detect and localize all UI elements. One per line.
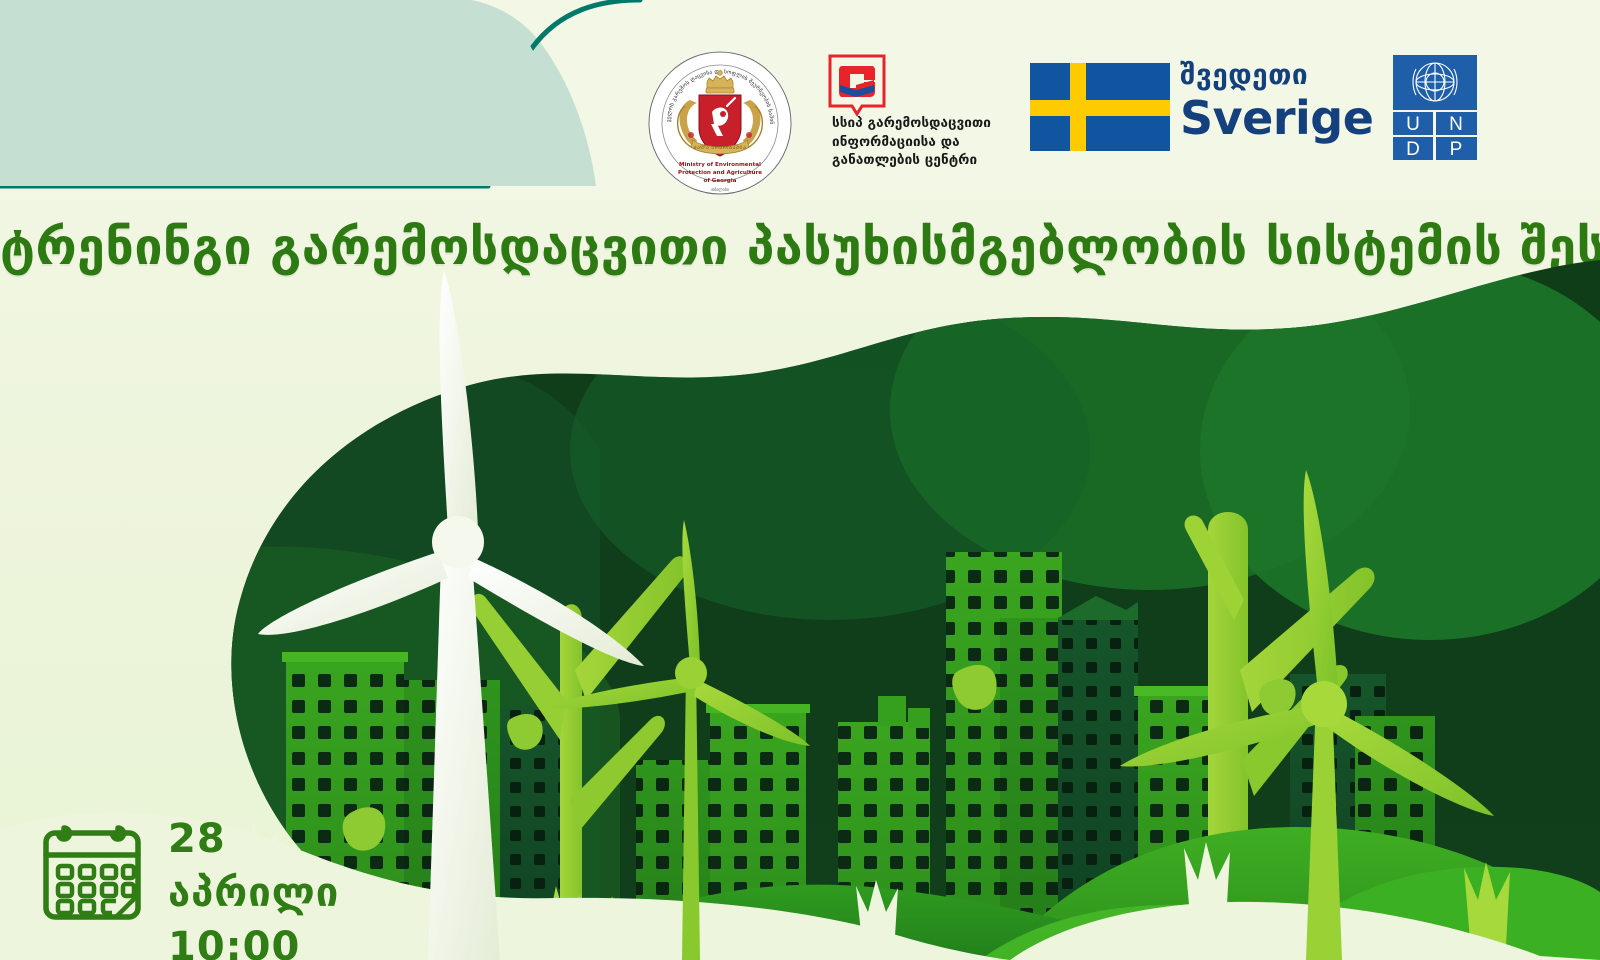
sweden-text-latin: Sverige — [1180, 95, 1370, 141]
sweden-text-georgian: შვედეთი — [1180, 61, 1370, 89]
svg-text:ᲫᲐᲚᲐ ᲔᲠᲗᲝᲑᲐᲨᲘᲐ: ᲫᲐᲚᲐ ᲔᲠᲗᲝᲑᲐᲨᲘᲐ — [694, 145, 747, 151]
logo-strip: საქართველოს გარემოს დაცვისა და სოფლის მე… — [0, 0, 1600, 200]
ministry-caption-line3: of Georgia — [704, 178, 737, 184]
undp-letter-n: N — [1449, 114, 1463, 135]
ministry-emblem-logo: საქართველოს გარემოს დაცვისა და სოფლის მე… — [645, 48, 795, 198]
poster-root: საქართველოს გარემოს დაცვისა და სოფლის მე… — [0, 0, 1600, 960]
undp-letter-u: U — [1406, 114, 1420, 135]
calendar-icon — [38, 816, 146, 924]
ministry-caption-line1: Ministry of Environmental — [679, 162, 761, 168]
info-centre-logo: სსიპ გარემოსდაცვითი ინფორმაციისა და განა… — [812, 52, 1012, 177]
sweden-text: შვედეთი Sverige — [1180, 61, 1370, 141]
info-centre-line1: სსიპ გარემოსდაცვითი — [832, 114, 1012, 133]
info-centre-line2: ინფორმაციისა და — [832, 133, 1012, 152]
event-datetime: 28 აპრილი 10:00 — [38, 808, 378, 938]
undp-letter-d: D — [1406, 139, 1420, 160]
undp-logo: U N D P — [1390, 55, 1480, 160]
undp-letter-p: P — [1450, 139, 1463, 160]
info-centre-line3: განათლების ცენტრი — [832, 151, 1012, 170]
ministry-caption-line2: Protection and Agriculture — [678, 170, 762, 176]
svg-text:თბილისი: თბილისი — [711, 187, 729, 192]
info-centre-text: სსიპ გარემოსდაცვითი ინფორმაციისა და განა… — [832, 114, 1012, 170]
event-date: 28 აპრილი — [168, 812, 378, 920]
event-time: 10:00 — [168, 920, 378, 960]
sweden-logo: შვედეთი Sverige — [1030, 55, 1360, 160]
